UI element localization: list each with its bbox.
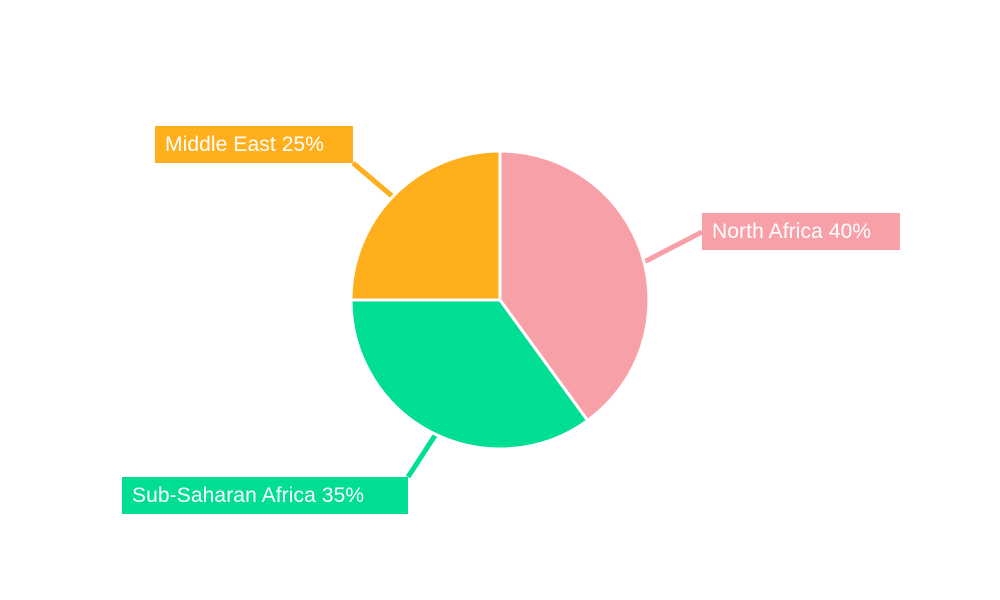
slice-label-sub-saharan-africa-text: Sub-Saharan Africa 35% [132,485,364,506]
slice-label-north-africa: North Africa 40% [702,213,900,250]
slice-label-middle-east: Middle East 25% [155,126,353,163]
slice-label-north-africa-text: North Africa 40% [712,221,871,242]
leader-line-middle-east [353,163,392,196]
pie-chart-figure: North Africa 40% Middle East 25% Sub-Sah… [0,0,1000,600]
pie-slice-middle-east[interactable] [351,151,500,300]
pie-slices [351,151,649,449]
slice-label-middle-east-text: Middle East 25% [165,134,324,155]
leader-line-sub-saharan-africa [408,434,436,477]
slice-label-sub-saharan-africa: Sub-Saharan Africa 35% [122,477,408,514]
leader-line-north-africa [644,232,702,262]
